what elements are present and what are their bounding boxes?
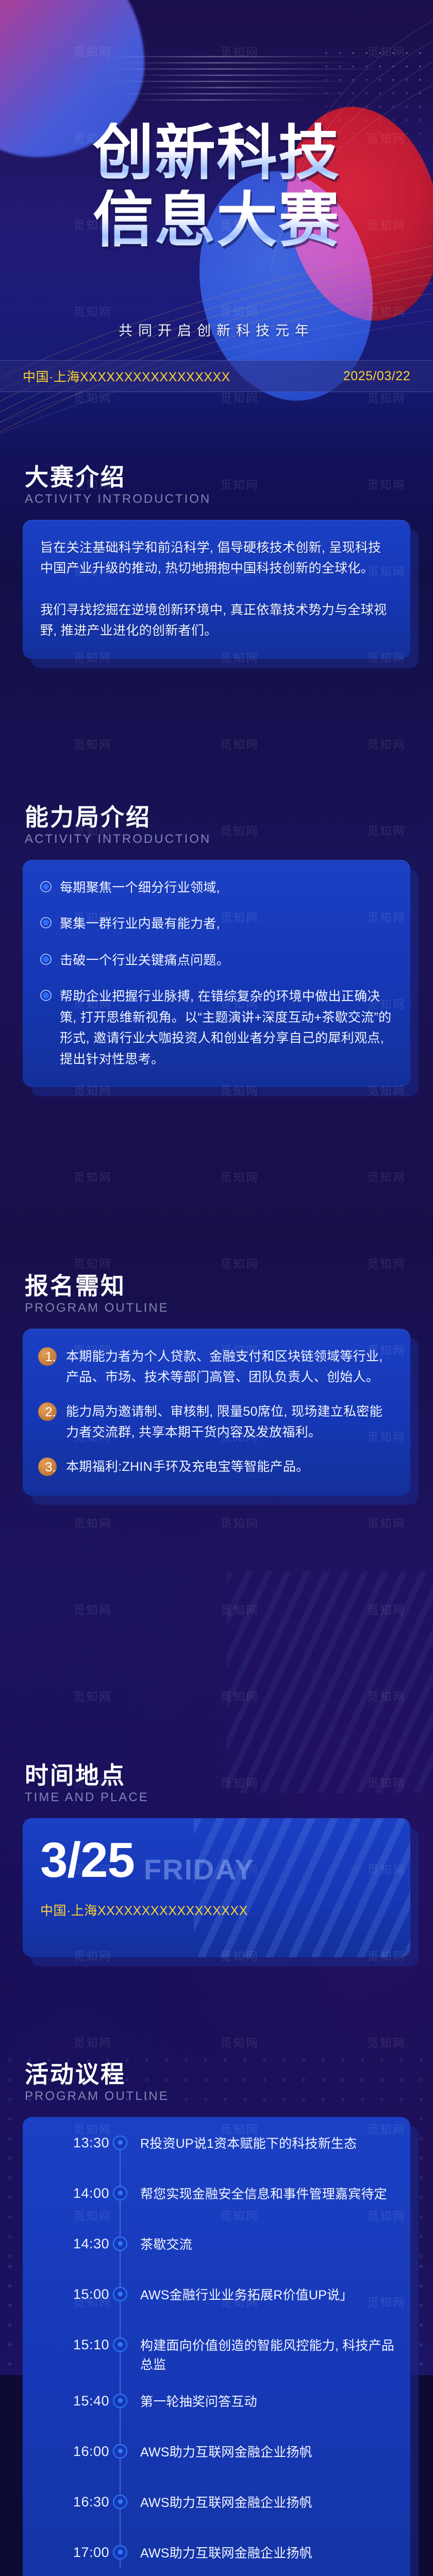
agenda-text-5: 构建面向价值创造的智能风控能力, 科技产品总监: [140, 2336, 395, 2375]
section-time-place-header: 时间地点 TIME AND PLACE: [0, 1762, 433, 1805]
hero-location-text: 中国·上海XXXXXXXXXXXXXXXXX: [23, 367, 230, 385]
watermark-text: 觅知网: [367, 736, 406, 752]
watermark-text: 觅知网: [367, 1601, 406, 1618]
hero-subtitle: 共同开启创新科技元年: [0, 319, 433, 340]
section-intro-card: 旨在关注基础科学和前沿科学, 倡导硬核技术创新, 呈现科技中国产业升级的推动, …: [23, 520, 410, 659]
hero-banner: 创新科技 信息大赛 共同开启创新科技元年 中国·上海XXXXXXXXXXXXXX…: [0, 0, 433, 397]
section-signup-header: 报名需知 PROGRAM OUTLINE: [0, 1273, 433, 1315]
table-row: 15:40 第一轮抽奖问答互动: [33, 2393, 395, 2426]
intro-paragraph-1: 旨在关注基础科学和前沿科学, 倡导硬核技术创新, 呈现科技中国产业升级的推动, …: [40, 537, 393, 579]
ability-bullet-2: 聚集一群行业内最有能力者,: [60, 913, 220, 935]
watermark-text: 觅知网: [73, 736, 112, 752]
watermark-text: 觅知网: [220, 736, 259, 752]
agenda-text-8: AWS助力互联网金融企业扬帆: [140, 2494, 312, 2513]
agenda-dot-icon: [109, 2134, 131, 2150]
date-display: 3/25 FRIDAY: [40, 1836, 393, 1885]
agenda-text-6: 第一轮抽奖问答互动: [140, 2393, 257, 2412]
agenda-text-2: 帮您实现金融安全信息和事件管理嘉宾待定: [140, 2185, 387, 2205]
section-time-place: 时间地点 TIME AND PLACE 3/25 FRIDAY 中国·上海XXX…: [0, 1762, 433, 1957]
agenda-dot-icon: [109, 2336, 131, 2352]
agenda-text-9: AWS助力互联网金融企业扬帆: [140, 2544, 312, 2564]
number-badge: 3.: [40, 1458, 61, 1478]
section-intro: 大赛介绍 ACTIVITY INTRODUCTION 旨在关注基础科学和前沿科学…: [0, 464, 433, 659]
watermark-text: 觅知网: [220, 2034, 259, 2050]
agenda-dot-icon: [109, 2494, 131, 2509]
bullet-circle-icon: [40, 881, 52, 892]
watermark-text: 觅知网: [73, 1688, 112, 1704]
agenda-dot-icon: [109, 2393, 131, 2408]
list-item: 聚集一群行业内最有能力者,: [40, 913, 393, 935]
bullet-circle-icon: [40, 917, 52, 928]
agenda-card-wrap: 13:30 R投资UP说1资本赋能下的科技新生态 14:00 帮您实现金融安全信…: [23, 2117, 410, 2576]
section-signup: 报名需知 PROGRAM OUTLINE 1. 本期能力者为个人贷款、金融支付和…: [0, 1273, 433, 1496]
agenda-time-5: 15:10: [33, 2336, 109, 2353]
watermark-text: 觅知网: [73, 1255, 112, 1272]
ability-bullet-1: 每期聚焦一个细分行业领域,: [60, 877, 220, 899]
watermark-text: 觅知网: [73, 1601, 112, 1618]
agenda-text-1: R投资UP说1资本赋能下的科技新生态: [140, 2134, 357, 2154]
section-signup-card-wrap: 1. 本期能力者为个人贷款、金融支付和区块链领域等行业, 产品、市场、技术等部门…: [23, 1329, 410, 1496]
hero-title-line2: 信息大赛: [0, 190, 433, 250]
hero-date-text: 2025/03/22: [343, 369, 410, 384]
list-item: 每期聚焦一个细分行业领域,: [40, 877, 393, 899]
section-signup-subtitle-en: PROGRAM OUTLINE: [25, 1301, 433, 1315]
table-row: 17:00 AWS助力互联网金融企业扬帆: [33, 2544, 395, 2576]
section-agenda: 活动议程 PROGRAM OUTLINE 13:30 R投资UP说1资本赋能下的…: [0, 2061, 433, 2576]
agenda-dot-icon: [109, 2185, 131, 2200]
agenda-time-8: 16:30: [33, 2494, 109, 2510]
watermark-text: 觅知网: [73, 1515, 112, 1531]
table-row: 15:10 构建面向价值创造的智能风控能力, 科技产品总监: [33, 2336, 395, 2375]
number-badge: 2.: [40, 1402, 61, 1423]
agenda-dot-icon: [109, 2544, 131, 2560]
section-time-place-title: 时间地点: [25, 1762, 433, 1789]
list-item: 1. 本期能力者为个人贷款、金融支付和区块链领域等行业, 产品、市场、技术等部门…: [40, 1346, 393, 1388]
agenda-text-4: AWS金融行业业务拓展R价值UP说」: [140, 2286, 353, 2306]
section-ability-title: 能力局介绍: [25, 804, 433, 831]
agenda-text-7: AWS助力互联网金融企业扬帆: [140, 2443, 312, 2463]
intro-paragraph-2: 我们寻找挖掘在逆境创新环境中, 真正依靠技术势力与全球视野, 推进产业进化的创新…: [40, 600, 393, 641]
number-badge: 1.: [40, 1347, 61, 1368]
section-intro-subtitle-en: ACTIVITY INTRODUCTION: [25, 492, 433, 506]
bullet-circle-icon: [40, 990, 52, 1001]
agenda-time-2: 14:00: [33, 2185, 109, 2201]
list-item: 击破一个行业关键痛点问题。: [40, 950, 393, 971]
section-agenda-subtitle-en: PROGRAM OUTLINE: [25, 2089, 433, 2104]
signup-text-3: 本期福利:ZHIN手环及充电宝等智能产品。: [66, 1456, 309, 1478]
section-signup-title: 报名需知: [25, 1273, 433, 1300]
table-row: 16:30 AWS助力互联网金融企业扬帆: [33, 2494, 395, 2527]
agenda-time-9: 17:00: [33, 2544, 109, 2561]
event-weekday: FRIDAY: [144, 1855, 255, 1885]
section-intro-title: 大赛介绍: [25, 464, 433, 491]
watermark-text: 觅知网: [220, 1168, 259, 1185]
table-row: 16:00 AWS助力互联网金融企业扬帆: [33, 2443, 395, 2476]
signup-text-1: 本期能力者为个人贷款、金融支付和区块链领域等行业, 产品、市场、技术等部门高管、…: [66, 1346, 393, 1388]
watermark-text: 觅知网: [220, 1688, 259, 1704]
table-row: 14:00 帮您实现金融安全信息和事件管理嘉宾待定: [33, 2185, 395, 2218]
list-item: 帮助企业把握行业脉搏, 在错综复杂的环境中做出正确决策, 打开思维新视角。以“主…: [40, 986, 393, 1070]
watermark-text: 觅知网: [367, 1168, 406, 1185]
watermark-text: 觅知网: [367, 1255, 406, 1272]
agenda-time-7: 16:00: [33, 2443, 109, 2460]
signup-number-1: 1.: [45, 1350, 56, 1365]
event-location: 中国·上海XXXXXXXXXXXXXXXXX: [40, 1901, 393, 1919]
table-row: 13:30 R投资UP说1资本赋能下的科技新生态: [33, 2134, 395, 2167]
section-ability-card: 每期聚焦一个细分行业领域, 聚集一群行业内最有能力者, 击破一个行业关键痛点问题…: [23, 860, 410, 1088]
section-intro-header: 大赛介绍 ACTIVITY INTRODUCTION: [0, 464, 433, 506]
agenda-time-3: 14:30: [33, 2235, 109, 2252]
list-item: 2. 能力局为邀请制、审核制, 限量50席位, 现场建立私密能力者交流群, 共享…: [40, 1401, 393, 1443]
date-card-wrap: 3/25 FRIDAY 中国·上海XXXXXXXXXXXXXXXXX: [23, 1818, 410, 1957]
decorative-diagonal-stripes: [227, 1571, 433, 1793]
watermark-text: 觅知网: [367, 2034, 406, 2050]
watermark-text: 觅知网: [367, 1515, 406, 1531]
section-agenda-title: 活动议程: [25, 2061, 433, 2088]
watermark-text: 觅知网: [367, 1688, 406, 1704]
agenda-dot-icon: [109, 2235, 131, 2251]
watermark-text: 觅知网: [73, 1168, 112, 1185]
section-signup-card: 1. 本期能力者为个人贷款、金融支付和区块链领域等行业, 产品、市场、技术等部门…: [23, 1329, 410, 1496]
table-row: 15:00 AWS金融行业业务拓展R价值UP说」: [33, 2286, 395, 2319]
signup-number-2: 2.: [45, 1405, 56, 1420]
table-row: 14:30 茶歇交流: [33, 2235, 395, 2268]
agenda-time-4: 15:00: [33, 2286, 109, 2302]
section-time-place-subtitle-en: TIME AND PLACE: [25, 1790, 433, 1805]
watermark-text: 觅知网: [73, 2034, 112, 2050]
agenda-dot-icon: [109, 2443, 131, 2459]
list-item: 3. 本期福利:ZHIN手环及充电宝等智能产品。: [40, 1456, 393, 1478]
hero-title-line1: 创新科技: [0, 123, 433, 183]
section-ability-subtitle-en: ACTIVITY INTRODUCTION: [25, 832, 433, 846]
signup-text-2: 能力局为邀请制、审核制, 限量50席位, 现场建立私密能力者交流群, 共享本期干…: [66, 1401, 393, 1443]
section-agenda-header: 活动议程 PROGRAM OUTLINE: [0, 2061, 433, 2104]
ability-bullet-4: 帮助企业把握行业脉搏, 在错综复杂的环境中做出正确决策, 打开思维新视角。以“主…: [60, 986, 393, 1070]
date-card: 3/25 FRIDAY 中国·上海XXXXXXXXXXXXXXXXX: [23, 1818, 410, 1957]
bullet-circle-icon: [40, 954, 52, 965]
event-date-number: 3/25: [40, 1836, 135, 1885]
watermark-text: 觅知网: [220, 1515, 259, 1531]
section-ability-header: 能力局介绍 ACTIVITY INTRODUCTION: [0, 804, 433, 846]
section-intro-card-wrap: 旨在关注基础科学和前沿科学, 倡导硬核技术创新, 呈现科技中国产业升级的推动, …: [23, 520, 410, 659]
agenda-list: 13:30 R投资UP说1资本赋能下的科技新生态 14:00 帮您实现金融安全信…: [33, 2134, 395, 2576]
signup-number-3: 3.: [45, 1460, 56, 1475]
agenda-card: 13:30 R投资UP说1资本赋能下的科技新生态 14:00 帮您实现金融安全信…: [23, 2117, 410, 2576]
watermark-text: 觅知网: [220, 1255, 259, 1272]
agenda-time-6: 15:40: [33, 2393, 109, 2409]
agenda-dot-icon: [109, 2286, 131, 2301]
watermark-text: 觅知网: [220, 1601, 259, 1618]
hero-info-row: 中国·上海XXXXXXXXXXXXXXXXX 2025/03/22: [0, 360, 433, 392]
agenda-time-1: 13:30: [33, 2134, 109, 2151]
section-ability: 能力局介绍 ACTIVITY INTRODUCTION 每期聚焦一个细分行业领域…: [0, 804, 433, 1087]
section-ability-card-wrap: 每期聚焦一个细分行业领域, 聚集一群行业内最有能力者, 击破一个行业关键痛点问题…: [23, 860, 410, 1088]
ability-bullet-3: 击破一个行业关键痛点问题。: [60, 950, 229, 971]
agenda-text-3: 茶歇交流: [140, 2235, 192, 2255]
